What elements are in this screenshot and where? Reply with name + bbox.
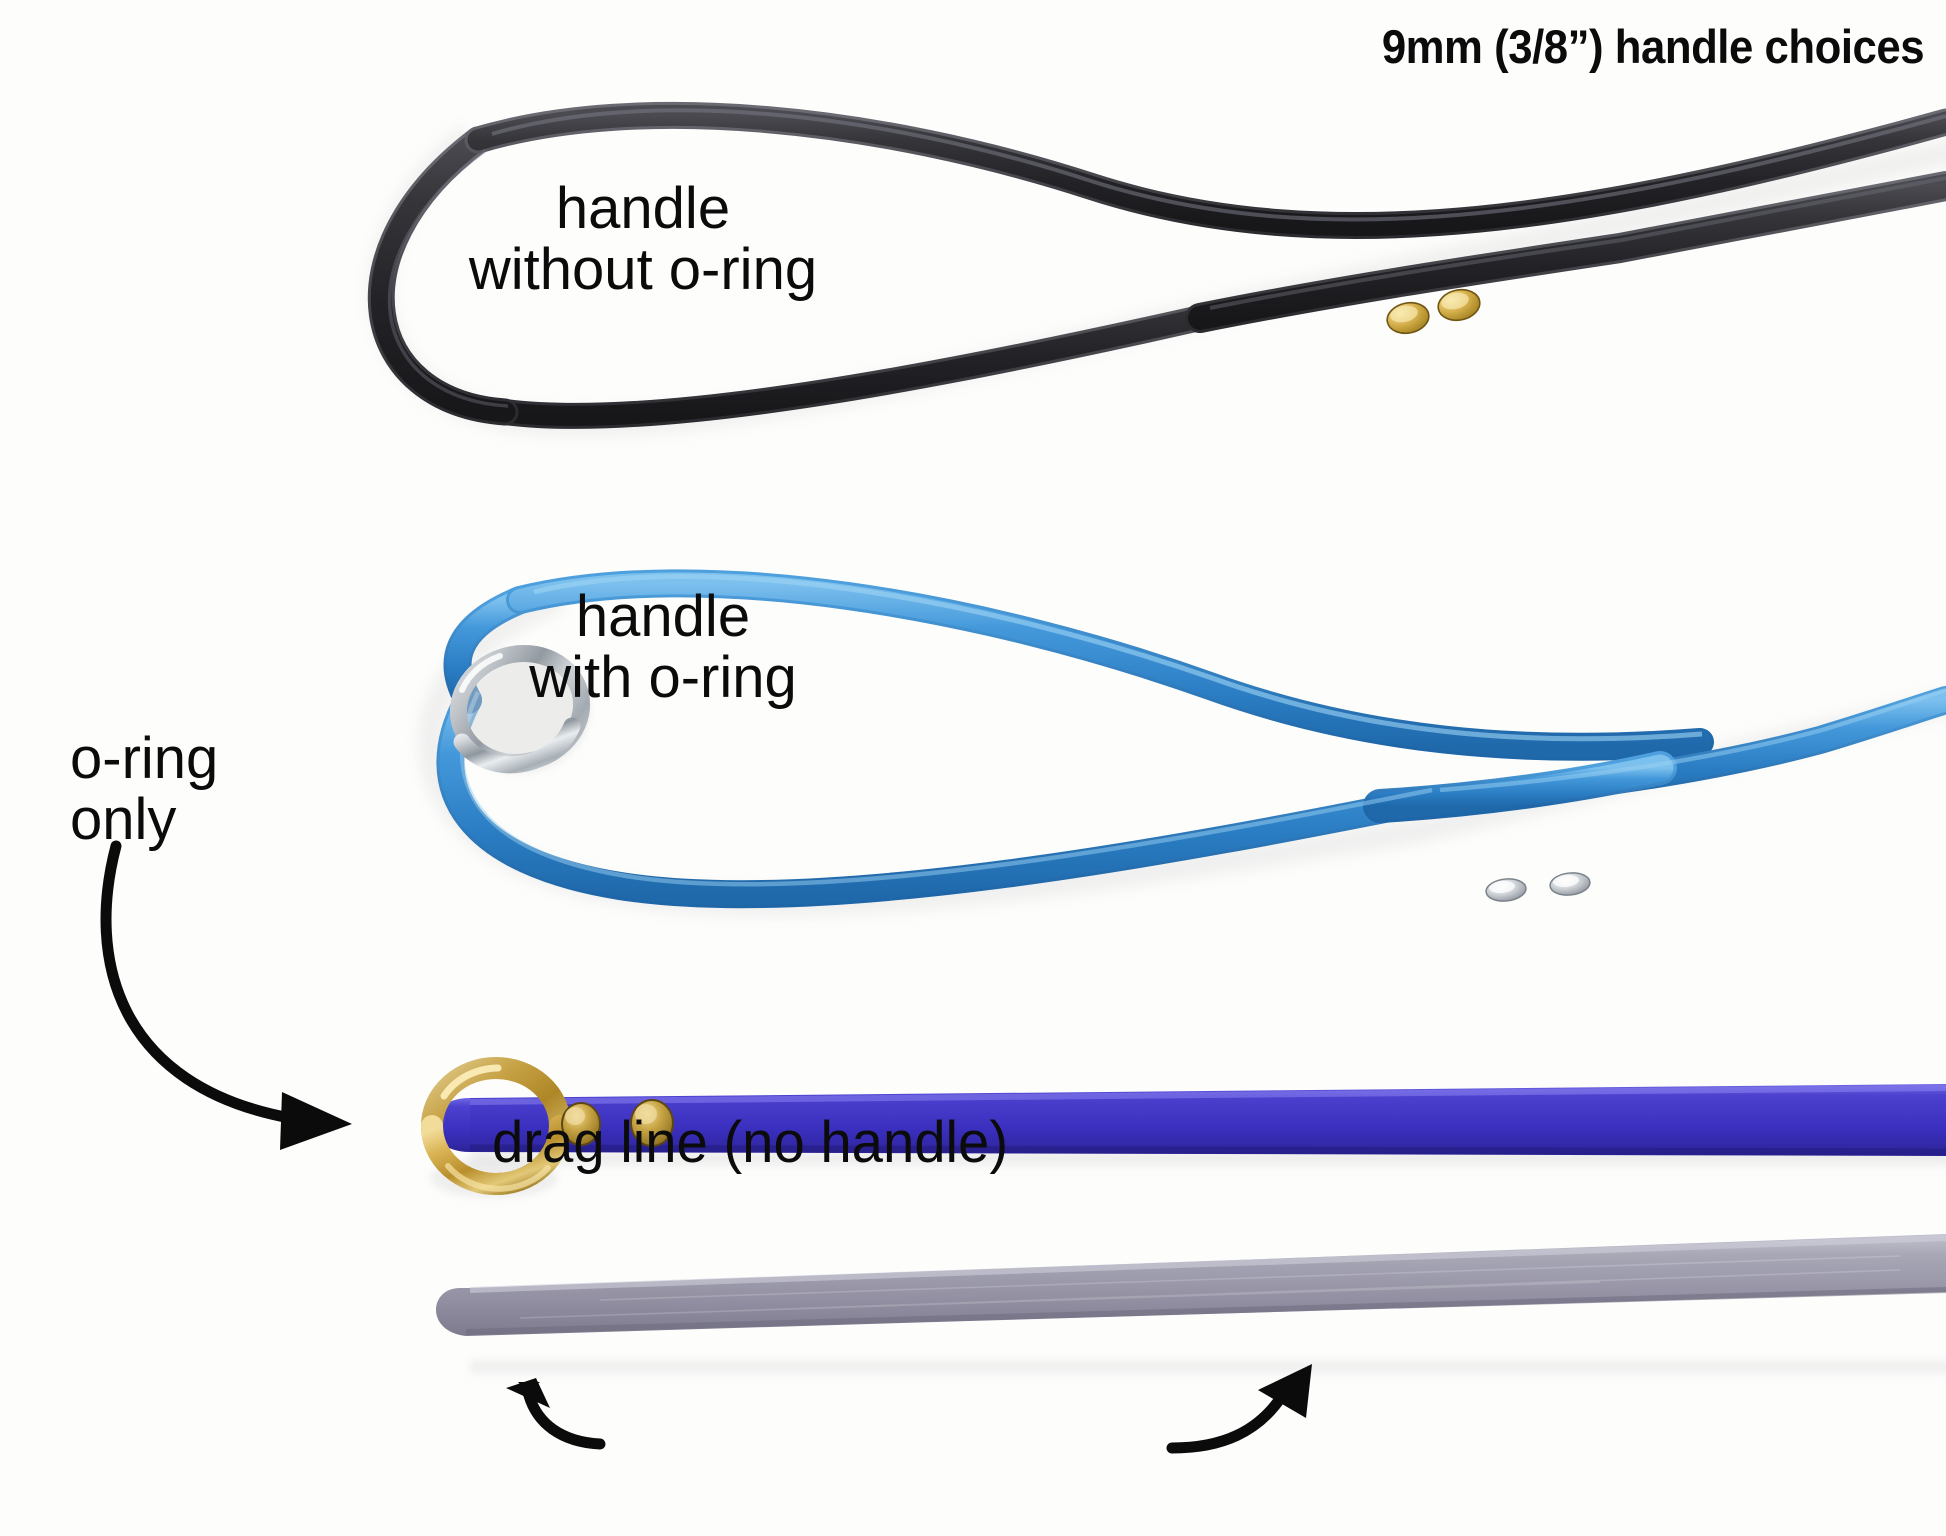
- page-title: 9mm (3/8”) handle choices: [1382, 22, 1924, 72]
- label-handle-with-oring: handle with o-ring: [453, 586, 873, 709]
- product-photo-infographic: 9mm (3/8”) handle choices handle without…: [0, 0, 1946, 1536]
- label-drag-line: drag line (no handle): [492, 1112, 1008, 1173]
- label-oring-only: o-ring only: [70, 728, 400, 851]
- label-handle-without-oring: handle without o-ring: [413, 178, 873, 301]
